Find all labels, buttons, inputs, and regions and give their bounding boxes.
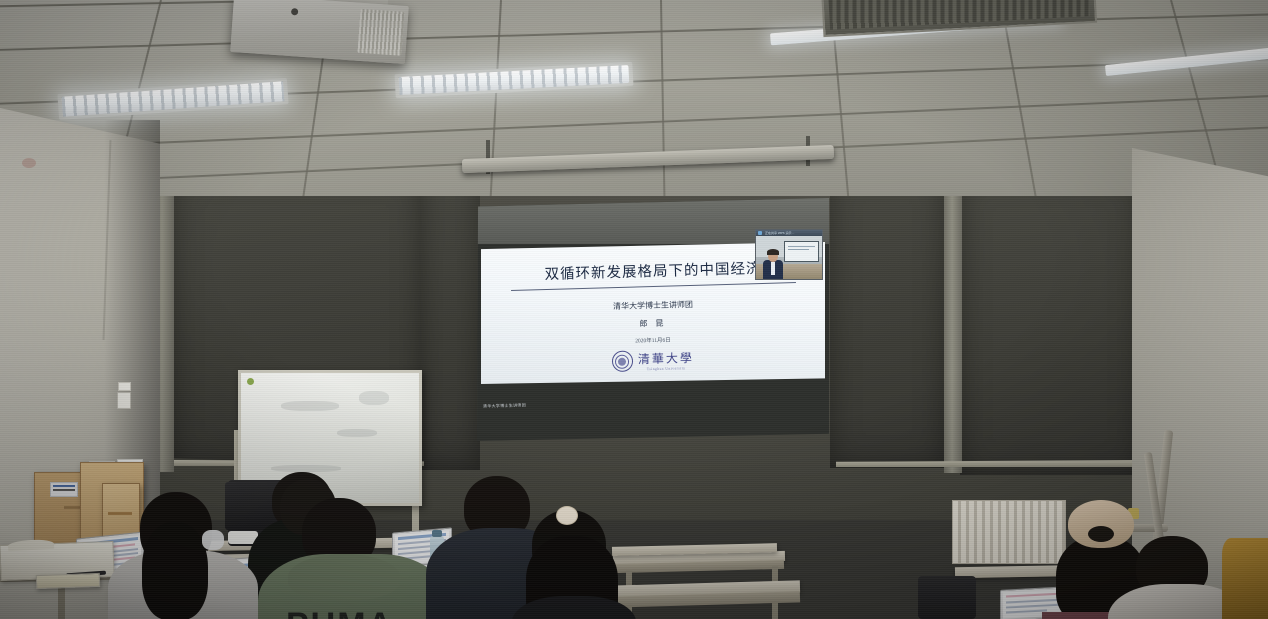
video-call-person-shirt [771, 262, 775, 275]
wall-outlet[interactable] [117, 392, 131, 409]
water-bottle-cap [432, 530, 442, 537]
video-call-feed [756, 236, 822, 279]
student-grey-jacket-mask [202, 530, 224, 550]
blackboard-right-inner [830, 168, 945, 468]
tsinghua-logo-cn: 清華大學 [638, 349, 694, 367]
student-yellow-coat [1222, 538, 1268, 619]
wall-scuff [22, 158, 36, 168]
ceiling [0, 0, 1268, 196]
box-label-1 [50, 482, 78, 497]
blackboard-center-left [420, 150, 480, 470]
wall-pilaster-right [944, 168, 962, 473]
projection-screen: 双循环新发展格局下的中国经济 清华大学博士生讲师团 郎 昆 2020年11月6日… [477, 198, 829, 441]
whiteboard-magnet [247, 378, 254, 385]
student-grey-jacket-hair [142, 522, 208, 619]
slide-watermark: 清华大学博士生讲师团 [483, 402, 526, 409]
notebook [36, 573, 100, 589]
video-call-badge-icon [758, 231, 762, 235]
tsinghua-logo: 清華大學 Tsinghua University [481, 346, 825, 375]
classroom-scene: 双循环新发展格局下的中国经济 清华大学博士生讲师团 郎 昆 2020年11月6日… [0, 0, 1268, 619]
tsinghua-seal-icon [612, 350, 634, 372]
video-call-window[interactable]: 正在共享 WPS 演示… [755, 229, 823, 280]
box-tape-2 [108, 512, 132, 515]
wall-outlet-label [118, 382, 131, 391]
video-call-whiteboard [784, 241, 819, 262]
radiator-icon [952, 500, 1066, 564]
cap-back-hole [1088, 526, 1114, 542]
slide-organization: 清华大学博士生讲师团 [481, 296, 825, 315]
tsinghua-logo-en: Tsinghua University [647, 366, 686, 371]
hair-scrunchie [556, 506, 578, 525]
slide-date: 2020年11月6日 [481, 332, 825, 348]
slide-speaker: 郎 昆 [481, 314, 825, 333]
blackboard-right-outer [960, 175, 1140, 475]
student-green-hoodie-hood [288, 554, 400, 600]
chair-right [918, 576, 976, 619]
video-call-person-hair [767, 249, 779, 255]
